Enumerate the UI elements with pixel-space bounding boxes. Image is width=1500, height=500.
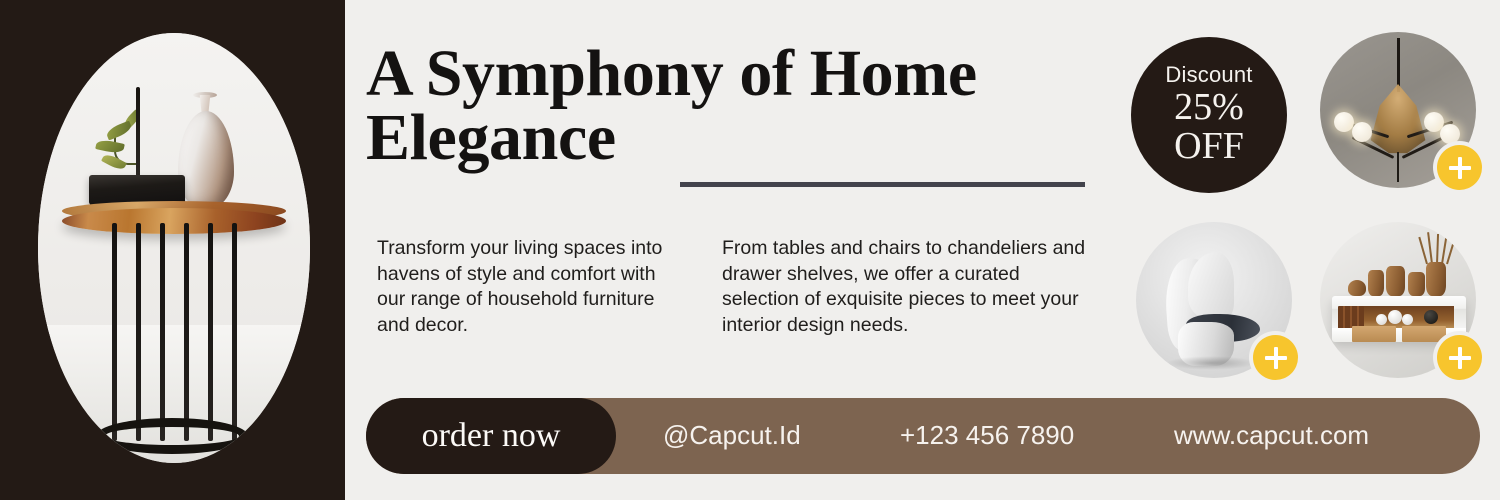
chandelier-drop bbox=[1397, 152, 1399, 182]
discount-label: Discount bbox=[1165, 64, 1252, 86]
order-now-button[interactable]: order now bbox=[366, 398, 616, 474]
product-thumb-wall-shelf[interactable] bbox=[1320, 222, 1476, 378]
page-title: A Symphony of Home Elegance bbox=[366, 42, 1096, 170]
chair-shadow bbox=[1166, 356, 1256, 370]
chandelier-bulb bbox=[1334, 112, 1354, 132]
table-top-edge bbox=[62, 208, 286, 234]
decor-sphere bbox=[1376, 314, 1387, 325]
promo-banner: A Symphony of Home Elegance Transform yo… bbox=[0, 0, 1500, 500]
phone-number[interactable]: +123 456 7890 bbox=[900, 420, 1074, 451]
add-product-plus-icon[interactable] bbox=[1437, 145, 1482, 190]
pottery-bowl bbox=[1348, 280, 1366, 296]
table-leg bbox=[160, 223, 165, 441]
product-thumb-lounge-chair[interactable] bbox=[1136, 222, 1292, 378]
shelf-drawer bbox=[1352, 326, 1396, 342]
pottery-jar bbox=[1408, 272, 1425, 296]
shelf-drawer bbox=[1402, 326, 1446, 342]
left-dark-panel bbox=[0, 0, 345, 500]
decor-sphere-dark bbox=[1424, 310, 1438, 324]
discount-percent: 25% bbox=[1174, 88, 1244, 127]
website-url[interactable]: www.capcut.com bbox=[1174, 420, 1369, 451]
plant-stem bbox=[136, 87, 140, 179]
decor-sphere bbox=[1388, 310, 1402, 324]
social-handle[interactable]: @Capcut.Id bbox=[663, 420, 801, 451]
table-leg bbox=[136, 223, 141, 441]
pottery-vase bbox=[1426, 262, 1446, 296]
chandelier-rod bbox=[1397, 38, 1400, 92]
table-leg bbox=[112, 223, 117, 441]
add-product-plus-icon[interactable] bbox=[1437, 335, 1482, 380]
discount-badge: Discount 25% OFF bbox=[1131, 37, 1287, 193]
table-leg bbox=[184, 223, 189, 441]
add-product-plus-icon[interactable] bbox=[1253, 335, 1298, 380]
chandelier-bulb bbox=[1352, 122, 1372, 142]
pottery-jar bbox=[1386, 266, 1405, 296]
pottery-jar bbox=[1368, 270, 1384, 296]
decor-sphere bbox=[1402, 314, 1413, 325]
headline-underline-rule bbox=[680, 182, 1085, 187]
table-leg bbox=[232, 223, 237, 441]
table-base-ring bbox=[96, 418, 248, 454]
headline-line-2: Elegance bbox=[366, 106, 1096, 170]
discount-suffix: OFF bbox=[1174, 127, 1244, 166]
chandelier-bulb bbox=[1440, 124, 1460, 144]
decorative-sticks bbox=[1424, 232, 1450, 264]
body-text-column-2: From tables and chairs to chandeliers an… bbox=[722, 236, 1092, 338]
hero-product-image bbox=[38, 33, 310, 463]
body-text-column-1: Transform your living spaces into havens… bbox=[377, 236, 677, 338]
headline-line-1: A Symphony of Home bbox=[366, 37, 977, 110]
table-leg bbox=[208, 223, 213, 441]
product-thumb-chandelier[interactable] bbox=[1320, 32, 1476, 188]
